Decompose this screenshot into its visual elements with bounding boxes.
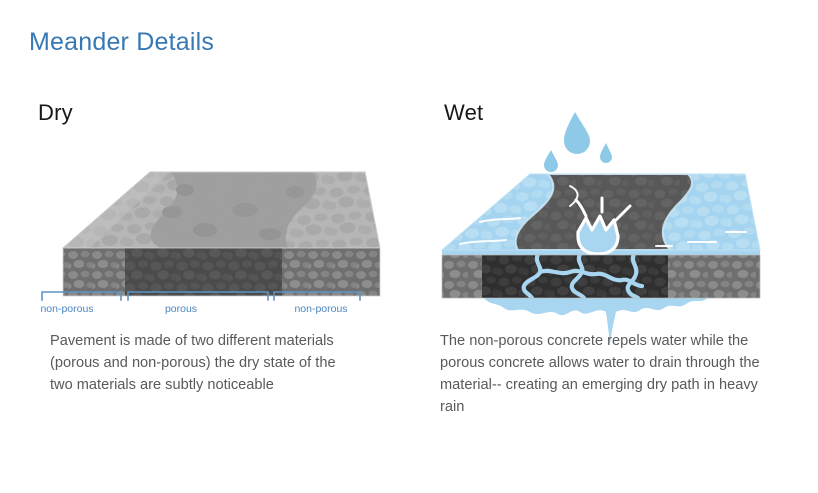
panel-caption-dry: Pavement is made of two different materi… — [50, 330, 350, 396]
dry-scale-brackets — [20, 288, 400, 304]
wet-core-face — [442, 254, 760, 298]
scale-label-nonporous-right: non-porous — [280, 303, 362, 315]
scale-label-nonporous-left: non-porous — [26, 303, 108, 315]
rain-droplets — [544, 112, 612, 172]
scale-bracket-svg — [20, 288, 400, 304]
panel-heading-dry: Dry — [38, 100, 73, 126]
wet-pavement-svg — [420, 100, 810, 330]
droplet-small-left — [544, 150, 558, 172]
scale-label-porous: porous — [140, 303, 222, 315]
page-title: Meander Details — [29, 28, 214, 57]
wet-pavement-diagram — [420, 100, 810, 330]
droplet-large — [564, 112, 590, 154]
droplet-small-right — [600, 143, 612, 163]
panel-caption-wet: The non-porous concrete repels water whi… — [440, 330, 780, 418]
dry-top-surface — [63, 172, 380, 248]
